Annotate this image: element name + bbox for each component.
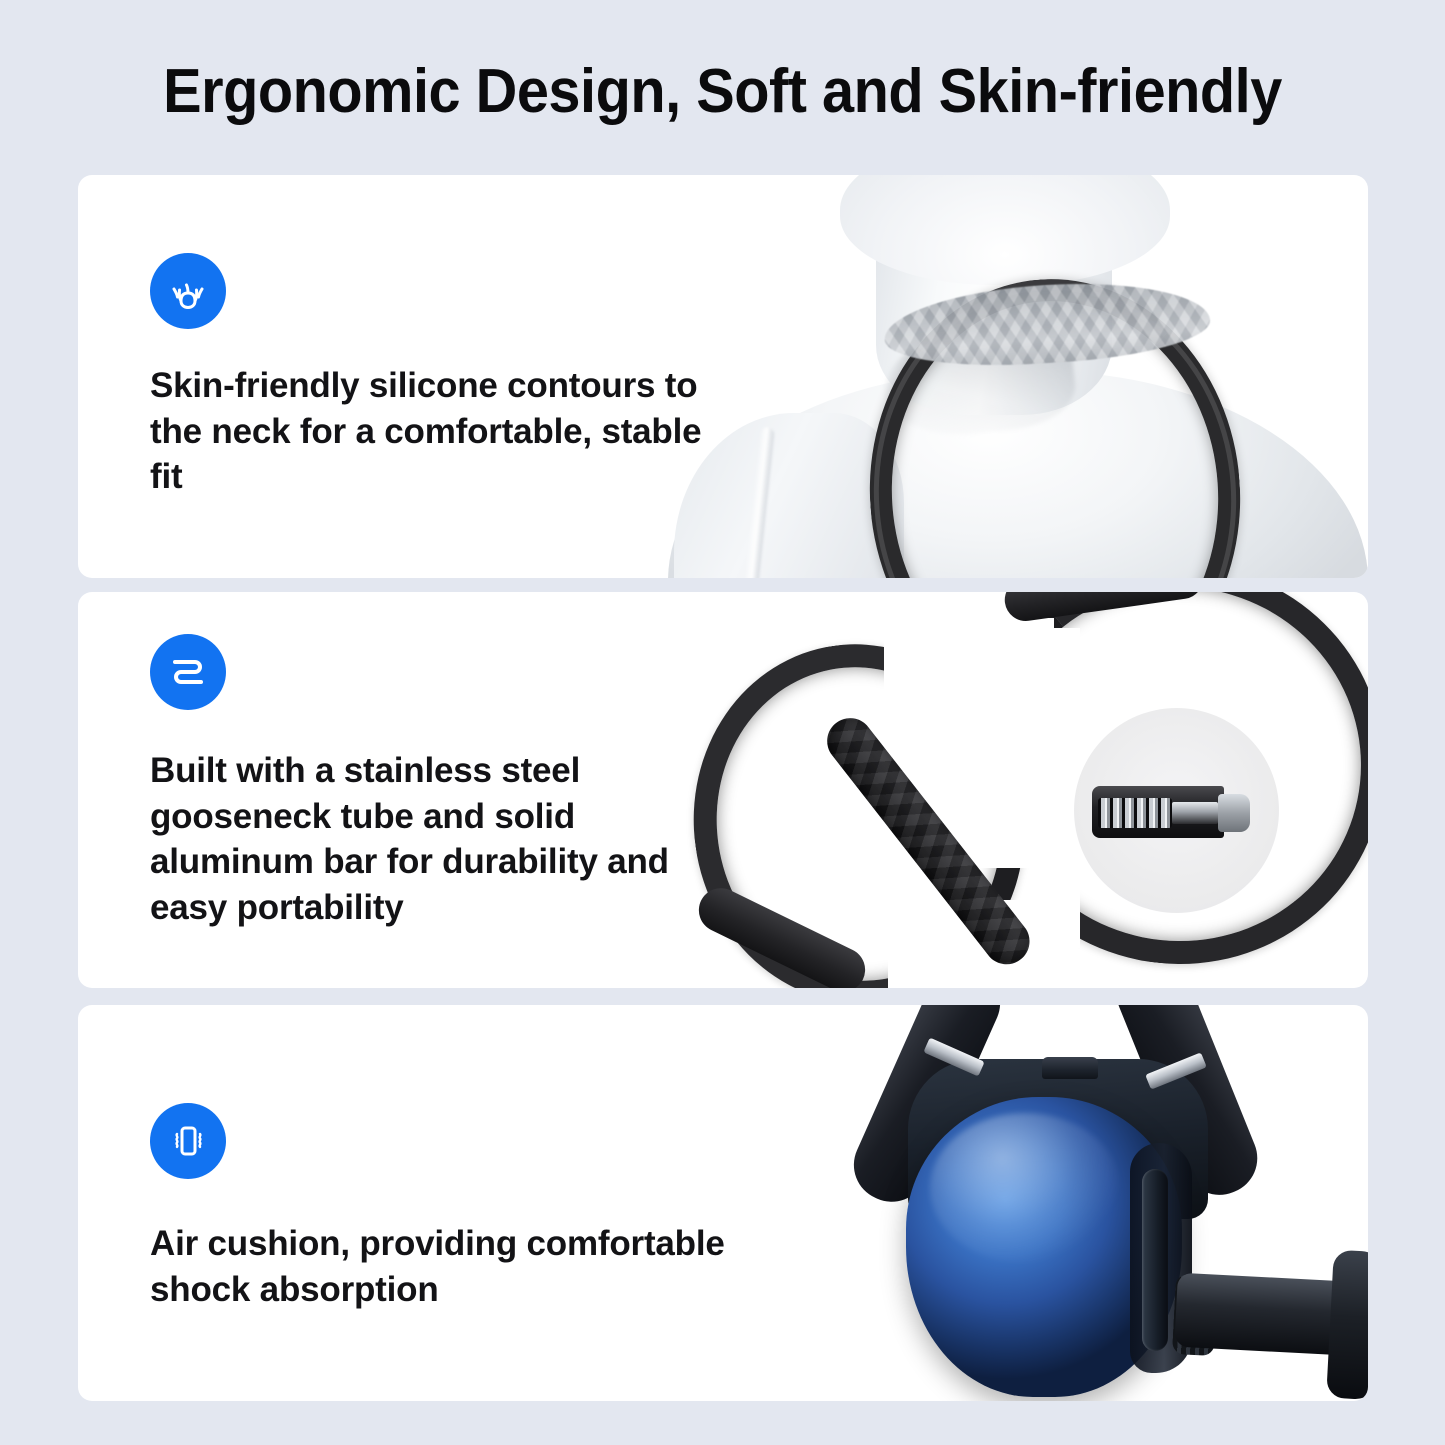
infographic-page: Ergonomic Design, Soft and Skin-friendly [0, 0, 1445, 1445]
vibration-cushion-icon [150, 1103, 226, 1179]
page-title: Ergonomic Design, Soft and Skin-friendly [51, 56, 1395, 127]
stem-end-cap [1326, 1250, 1368, 1401]
chrome-connector-tip [1218, 794, 1250, 832]
feature-description: Built with a stainless steel gooseneck t… [150, 748, 670, 930]
panel-3-text-block: Air cushion, providing comfortable shock… [150, 1103, 790, 1312]
tube-inner-core [1172, 802, 1218, 824]
cutaway-inset-circle [1074, 708, 1279, 913]
black-stem-arm [1174, 1273, 1348, 1356]
cushion-side-ridge [1142, 1169, 1168, 1351]
panel-2-text-block: Built with a stainless steel gooseneck t… [150, 634, 670, 930]
cushion-gloss-highlight [930, 1113, 1120, 1263]
panel-1-text-block: Skin-friendly silicone contours to the n… [150, 253, 710, 500]
gooseneck-illustration [674, 592, 1368, 988]
control-button [1042, 1057, 1098, 1079]
neck-contour-icon [150, 253, 226, 329]
feature-description: Air cushion, providing comfortable shock… [150, 1221, 790, 1312]
gooseneck-bend-icon [150, 634, 226, 710]
feature-description: Skin-friendly silicone contours to the n… [150, 363, 710, 500]
gooseneck-cutaway [1092, 786, 1262, 838]
feature-panel-skin-friendly: Skin-friendly silicone contours to the n… [78, 175, 1368, 578]
stainless-steel-spring [1098, 798, 1172, 828]
feature-panel-air-cushion: Air cushion, providing comfortable shock… [78, 1005, 1368, 1401]
air-cushion-illustration [778, 1005, 1368, 1401]
feature-panel-gooseneck: Built with a stainless steel gooseneck t… [78, 592, 1368, 988]
mannequin-illustration [638, 175, 1368, 578]
